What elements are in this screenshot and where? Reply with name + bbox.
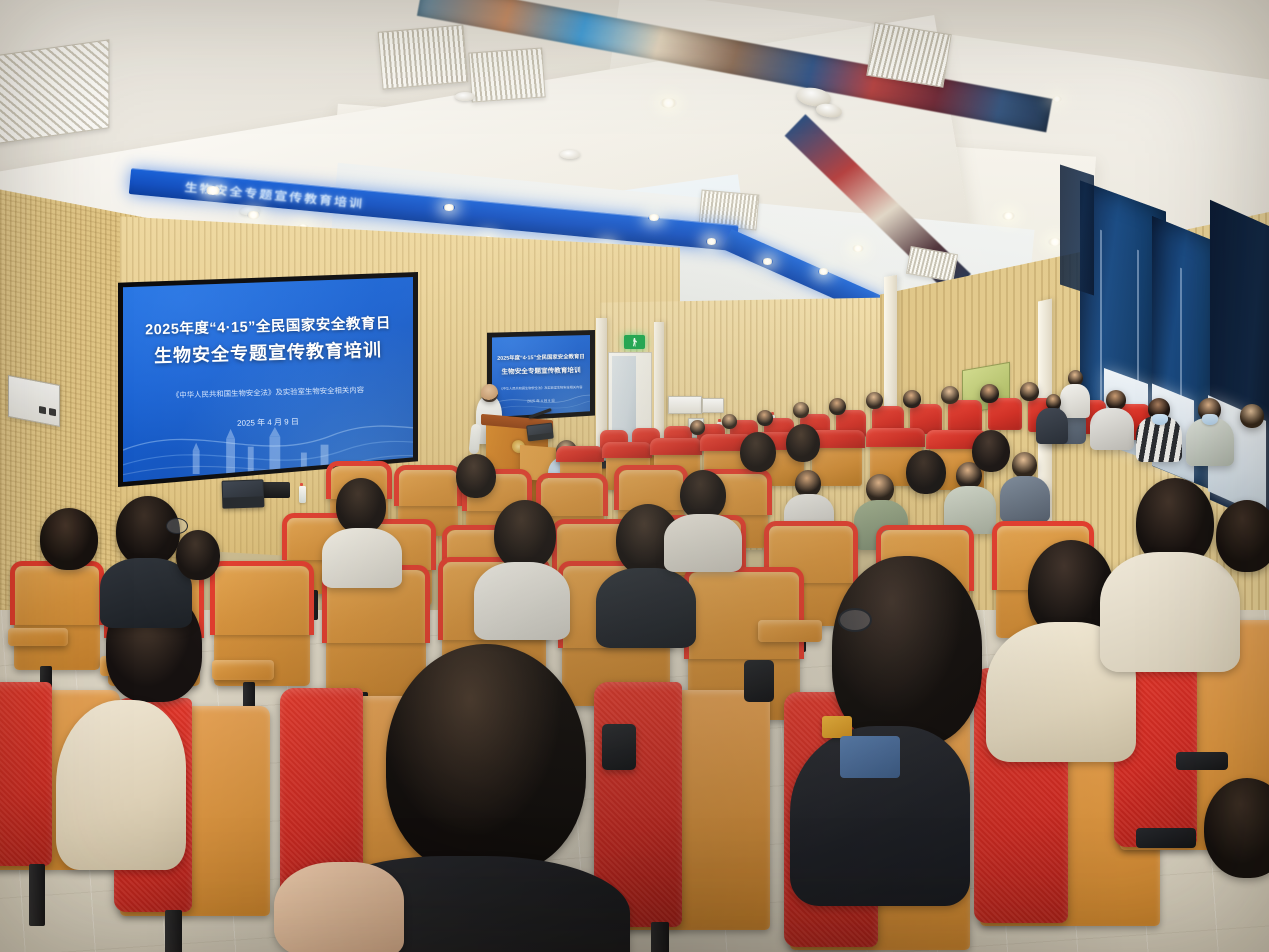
ceiling-downlight [443, 204, 455, 211]
ac-vent-icon [378, 24, 469, 89]
wall-mounted-unit [702, 398, 724, 413]
ac-vent-icon [468, 47, 545, 102]
slide-title-line2: 生物安全专题宣传教育培训 [492, 364, 590, 376]
smoke-detector-icon [560, 150, 580, 159]
ceiling-downlight [660, 98, 677, 108]
ceiling-downlight [706, 238, 717, 245]
shoe [1176, 752, 1228, 770]
seat-tablet-arm[interactable] [758, 620, 822, 642]
audience-head [786, 424, 820, 462]
auditorium-seat[interactable] [14, 566, 100, 670]
side-projection-screen: 2025年度“4·15”全民国家安全教育日 生物安全专题宣传教育培训 《中华人民… [487, 330, 595, 422]
slide-title-line2: 生物安全专题宣传教育培训 [123, 335, 413, 369]
ceiling-downlight [1052, 96, 1062, 102]
slide-title-line1: 2025年度“4·15”全民国家安全教育日 [492, 352, 590, 362]
audience-head [740, 432, 776, 472]
main-projection-screen: 2025年度“4·15”全民国家安全教育日 生物安全专题宣传教育培训 《中华人民… [118, 272, 418, 487]
ceiling-downlight [1002, 212, 1015, 220]
window-curtain-dark[interactable] [1060, 164, 1094, 295]
ac-diffuser-icon [0, 39, 109, 145]
ceiling-downlight [205, 186, 221, 195]
ceiling-downlight [247, 211, 260, 219]
slide-date: 2025 年 4 月 9 日 [123, 413, 413, 432]
smoke-detector-icon [455, 92, 475, 101]
podium-laptop [526, 422, 554, 441]
ceiling-downlight [648, 214, 660, 221]
wall-mounted-unit [668, 396, 702, 414]
auditorium-scene: 生物安全专题宣传教育培训 [0, 0, 1269, 952]
smartphone[interactable] [822, 716, 852, 738]
denim-sleeve [840, 736, 900, 778]
main-slide-content: 2025年度“4·15”全民国家安全教育日 生物安全专题宣传教育培训 《中华人民… [123, 277, 413, 482]
audience-head [906, 450, 946, 494]
audience-head [176, 530, 220, 580]
audience-head [972, 430, 1010, 472]
ceiling-downlight [762, 258, 773, 265]
slide-subtitle: 《中华人民共和国生物安全法》及实验室生物安全相关内容 [123, 383, 413, 402]
speaker-head [481, 384, 498, 402]
curtain-seam [1100, 230, 1102, 421]
seat-tablet-arm[interactable] [8, 628, 68, 646]
seat-tablet-arm[interactable] [212, 660, 274, 680]
ceiling-downlight [818, 268, 829, 275]
ceiling-downlight [852, 245, 864, 252]
slide-subtitle: 《中华人民共和国生物安全法》及实验室生物安全相关内容 [492, 384, 590, 391]
backpack [744, 660, 774, 702]
side-slide-content: 2025年度“4·15”全民国家安全教育日 生物安全专题宣传教育培训 《中华人民… [492, 335, 590, 417]
audience-laptop [222, 479, 265, 508]
water-bottle [299, 486, 306, 503]
auditorium-seat[interactable] [326, 570, 426, 696]
backpack [602, 724, 636, 770]
exit-sign-icon [624, 335, 645, 349]
slide-date: 2025 年 4 月 9 日 [492, 398, 590, 405]
shoe [1136, 828, 1196, 848]
